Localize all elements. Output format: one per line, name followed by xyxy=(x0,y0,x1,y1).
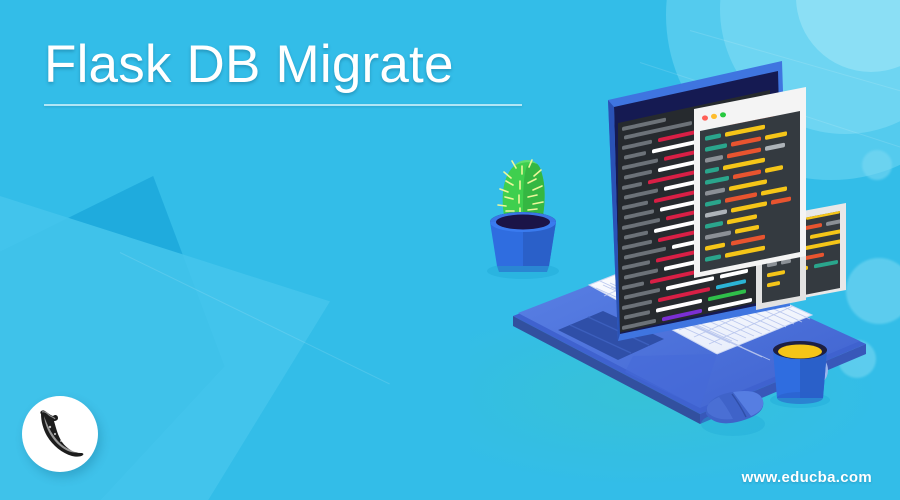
page-title-underline xyxy=(44,104,522,106)
page-title-text: Flask DB Migrate xyxy=(44,34,564,96)
chili-pepper-icon xyxy=(31,408,89,462)
mug-coffee xyxy=(778,345,822,359)
educba-logo[interactable] xyxy=(22,396,98,472)
window-close-dot xyxy=(702,115,708,120)
window-maximize-dot xyxy=(720,112,726,117)
banner: Flask DB Migrate www.educba.com xyxy=(0,0,900,500)
site-watermark: www.educba.com xyxy=(742,469,872,486)
cactus-plant xyxy=(487,160,559,279)
window-minimize-dot xyxy=(711,114,717,119)
code-window-front xyxy=(694,87,806,278)
coffee-mug xyxy=(770,341,830,408)
page-title: Flask DB Migrate xyxy=(44,34,564,106)
